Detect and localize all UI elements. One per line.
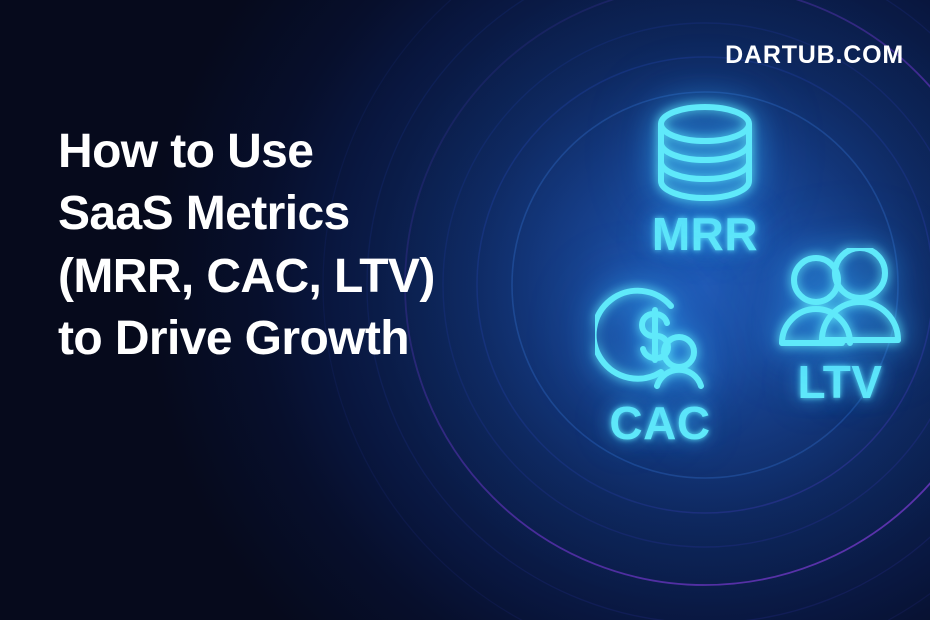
metric-ltv-label: LTV [740, 359, 930, 405]
metric-cac: CAC [560, 276, 760, 446]
brand-logo-text: DARTUB.COM [725, 41, 904, 70]
title-line-4: to Drive Growth [58, 308, 518, 370]
dollar-circle-person-icon [595, 276, 725, 394]
title-line-1: How to Use [58, 121, 518, 183]
database-stack-icon [645, 100, 765, 205]
thumbnail-canvas: DARTUB.COM How to Use SaaS Metrics (MRR,… [0, 0, 930, 620]
title-line-3: (MRR, CAC, LTV) [58, 246, 518, 308]
metric-cac-label: CAC [560, 400, 760, 446]
title-line-2: SaaS Metrics [58, 183, 518, 245]
users-group-icon [775, 248, 905, 353]
page-title: How to Use SaaS Metrics (MRR, CAC, LTV) … [58, 121, 518, 371]
metric-mrr: MRR [605, 100, 805, 257]
metric-ltv: LTV [740, 248, 930, 405]
